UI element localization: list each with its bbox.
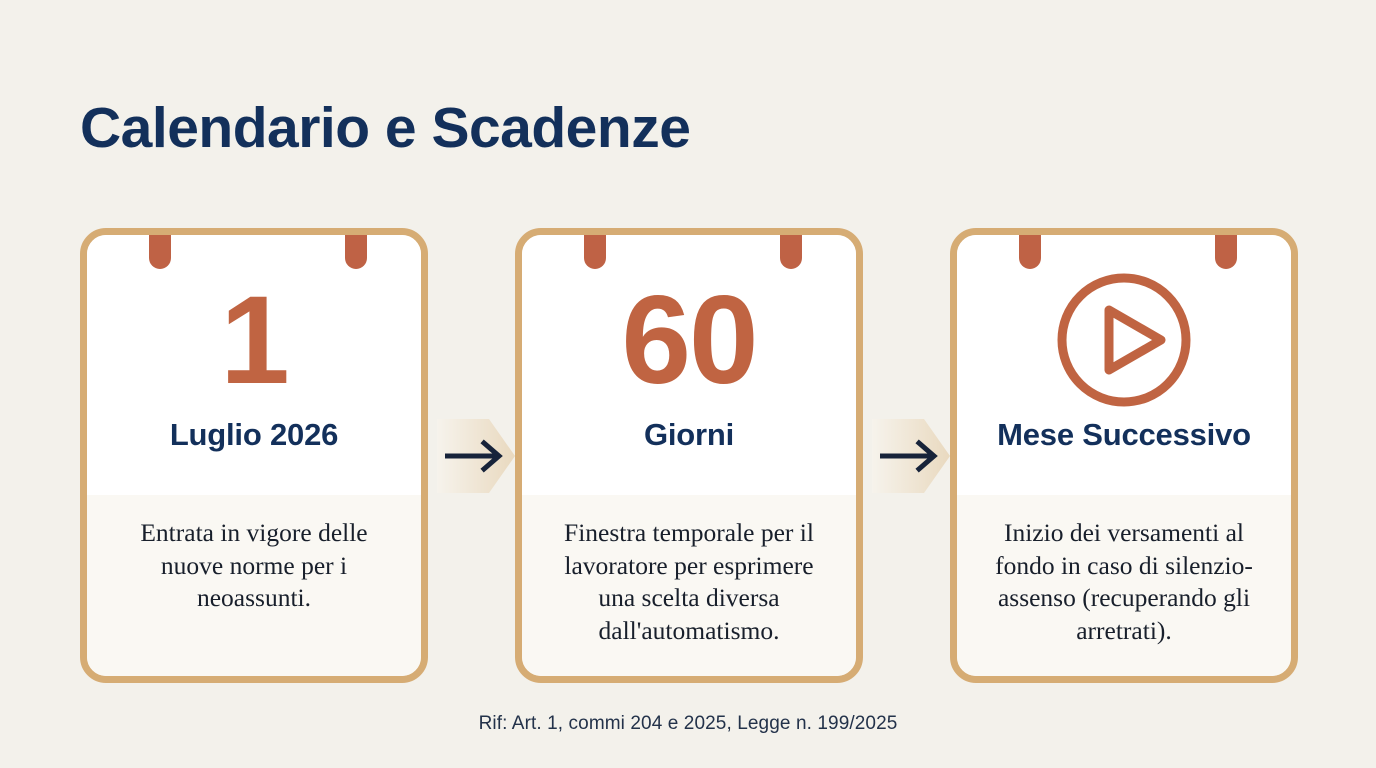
card-description: Finestra temporale per il lavoratore per… <box>544 517 834 648</box>
card-label: Luglio 2026 <box>170 417 338 453</box>
card-body: Finestra temporale per il lavoratore per… <box>522 495 856 677</box>
card-body: Entrata in vigore delle nuove norme per … <box>87 495 421 677</box>
calendar-ring-left-icon <box>584 228 606 269</box>
card-header: Mese Successivo <box>957 235 1291 495</box>
calendar-ring-right-icon <box>1215 228 1237 269</box>
connector-arrow-2 <box>866 401 954 511</box>
card-description: Entrata in vigore delle nuove norme per … <box>109 517 399 615</box>
timeline-cards-row: 1 Luglio 2026 Entrata in vigore delle nu… <box>80 228 1298 683</box>
play-circle-icon <box>1049 265 1199 415</box>
connector-arrow-1 <box>431 401 519 511</box>
calendar-ring-right-icon <box>345 228 367 269</box>
card-big-number: 1 <box>220 265 288 415</box>
arrow-right-icon <box>866 401 954 511</box>
page-title: Calendario e Scadenze <box>80 97 690 161</box>
card-label: Mese Successivo <box>997 417 1251 453</box>
calendar-ring-left-icon <box>149 228 171 269</box>
calendar-card-3: Mese Successivo Inizio dei versamenti al… <box>950 228 1298 683</box>
card-icon-slot <box>1049 265 1199 415</box>
footer-reference: Rif: Art. 1, commi 204 e 2025, Legge n. … <box>0 713 1376 735</box>
calendar-card-1: 1 Luglio 2026 Entrata in vigore delle nu… <box>80 228 428 683</box>
card-label: Giorni <box>644 417 734 453</box>
infographic-root: Calendario e Scadenze 1 Luglio 2026 Entr… <box>0 0 1376 768</box>
calendar-ring-left-icon <box>1019 228 1041 269</box>
arrow-right-icon <box>431 401 519 511</box>
card-description: Inizio dei versamenti al fondo in caso d… <box>979 517 1269 648</box>
calendar-ring-right-icon <box>780 228 802 269</box>
card-body: Inizio dei versamenti al fondo in caso d… <box>957 495 1291 677</box>
card-big-number: 60 <box>621 265 756 415</box>
card-header: 1 Luglio 2026 <box>87 235 421 495</box>
card-header: 60 Giorni <box>522 235 856 495</box>
calendar-card-2: 60 Giorni Finestra temporale per il lavo… <box>515 228 863 683</box>
